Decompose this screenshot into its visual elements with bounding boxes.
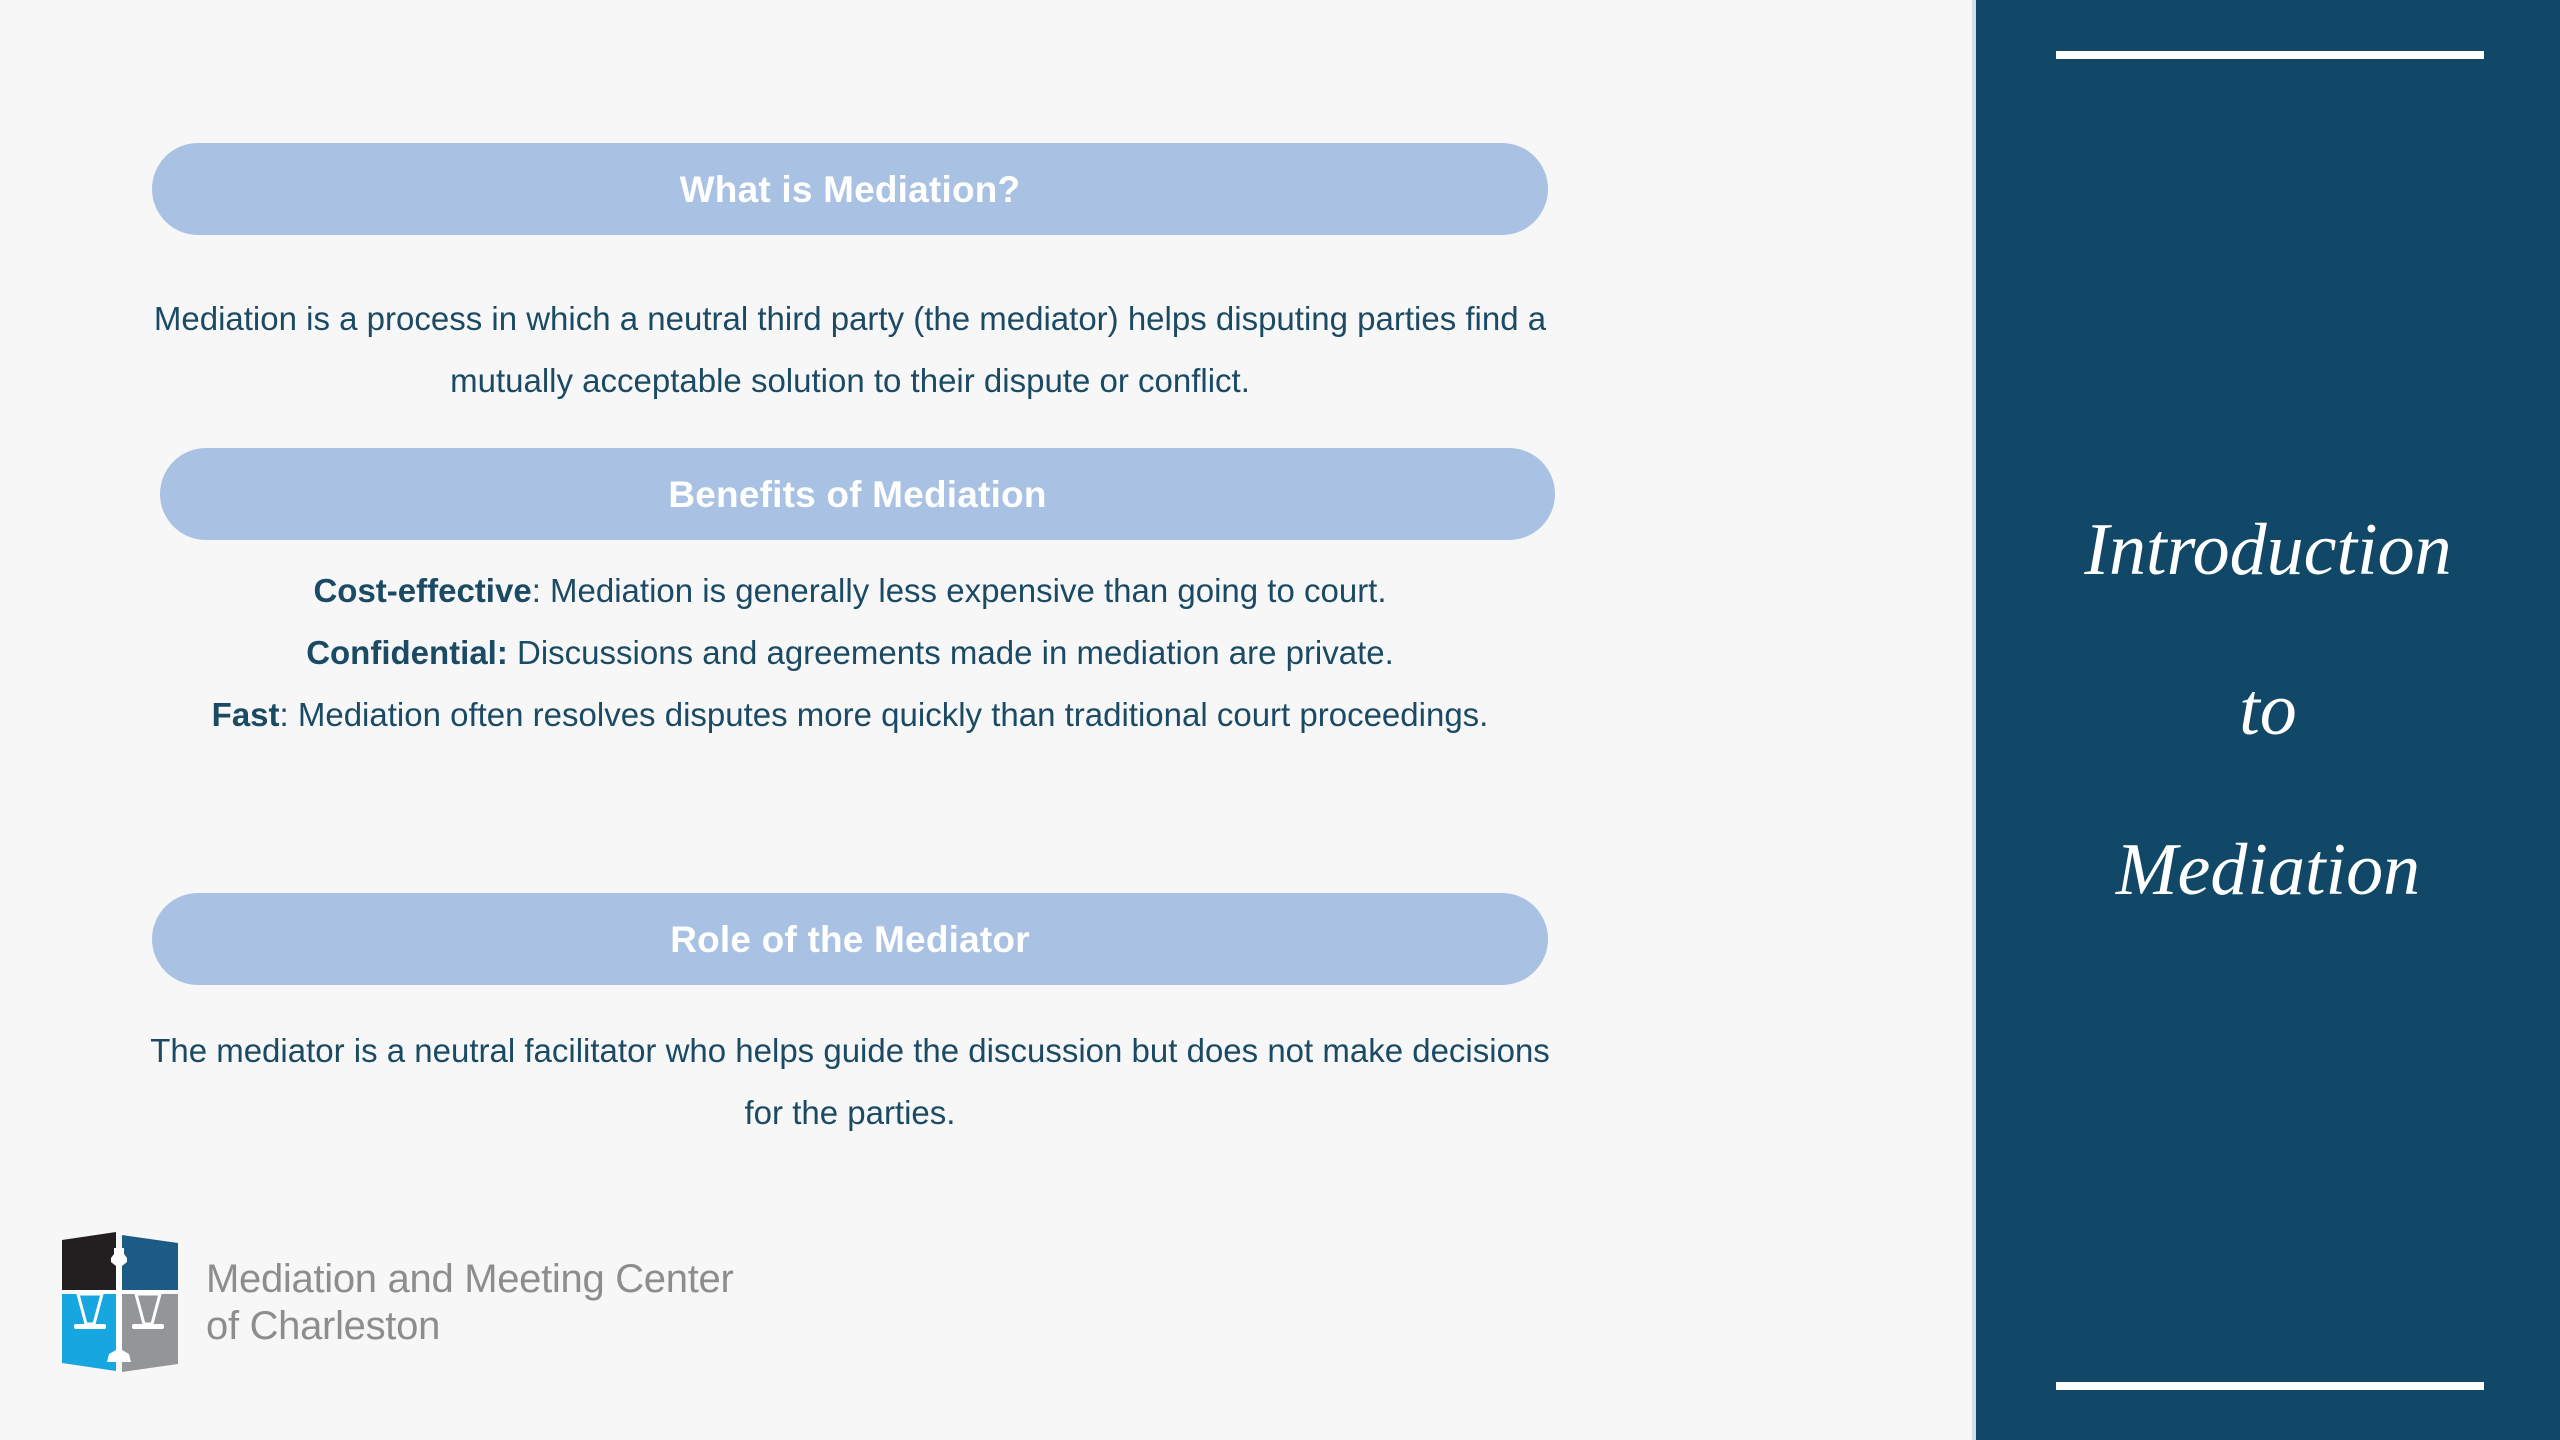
scales-of-justice-icon — [58, 1228, 184, 1378]
section-body-role-of-the-mediator: The mediator is a neutral facilitator wh… — [130, 1020, 1570, 1144]
slide-title-panel: Introduction to Mediation — [1972, 0, 2560, 1440]
panel-rule-top — [2056, 51, 2484, 59]
section-heading-label: What is Mediation? — [680, 171, 1021, 208]
benefit-item: Confidential: Discussions and agreements… — [306, 634, 1394, 671]
benefit-text: Mediation is generally less expensive th… — [550, 572, 1387, 609]
section-heading-pill-what-is-mediation: What is Mediation? — [152, 143, 1548, 235]
benefit-text: Mediation often resolves disputes more q… — [298, 696, 1488, 733]
section-heading-pill-role-of-the-mediator: Role of the Mediator — [152, 893, 1548, 985]
section-heading-label: Benefits of Mediation — [668, 476, 1046, 513]
section-body-benefits-list: Cost-effective: Mediation is generally l… — [130, 560, 1570, 746]
slide-title: Introduction to Mediation — [1976, 470, 2560, 950]
benefit-text: Discussions and agreements made in media… — [517, 634, 1394, 671]
section-heading-pill-benefits-of-mediation: Benefits of Mediation — [160, 448, 1555, 540]
benefit-item: Cost-effective: Mediation is generally l… — [313, 572, 1386, 609]
panel-rule-bottom — [2056, 1382, 2484, 1390]
benefit-separator — [508, 634, 517, 671]
benefit-term: Cost-effective — [313, 572, 531, 609]
slide-content-area: What is Mediation? Mediation is a proces… — [0, 0, 1972, 1440]
organization-name: Mediation and Meeting Center of Charlest… — [206, 1256, 733, 1350]
section-heading-label: Role of the Mediator — [670, 921, 1030, 958]
organization-logo: Mediation and Meeting Center of Charlest… — [58, 1228, 733, 1378]
benefit-separator: : — [532, 572, 550, 609]
section-body-what-is-mediation: Mediation is a process in which a neutra… — [130, 288, 1570, 412]
benefit-term: Fast — [212, 696, 280, 733]
benefit-item: Fast: Mediation often resolves disputes … — [212, 696, 1489, 733]
benefit-term: Confidential: — [306, 634, 508, 671]
benefit-separator: : — [280, 696, 298, 733]
